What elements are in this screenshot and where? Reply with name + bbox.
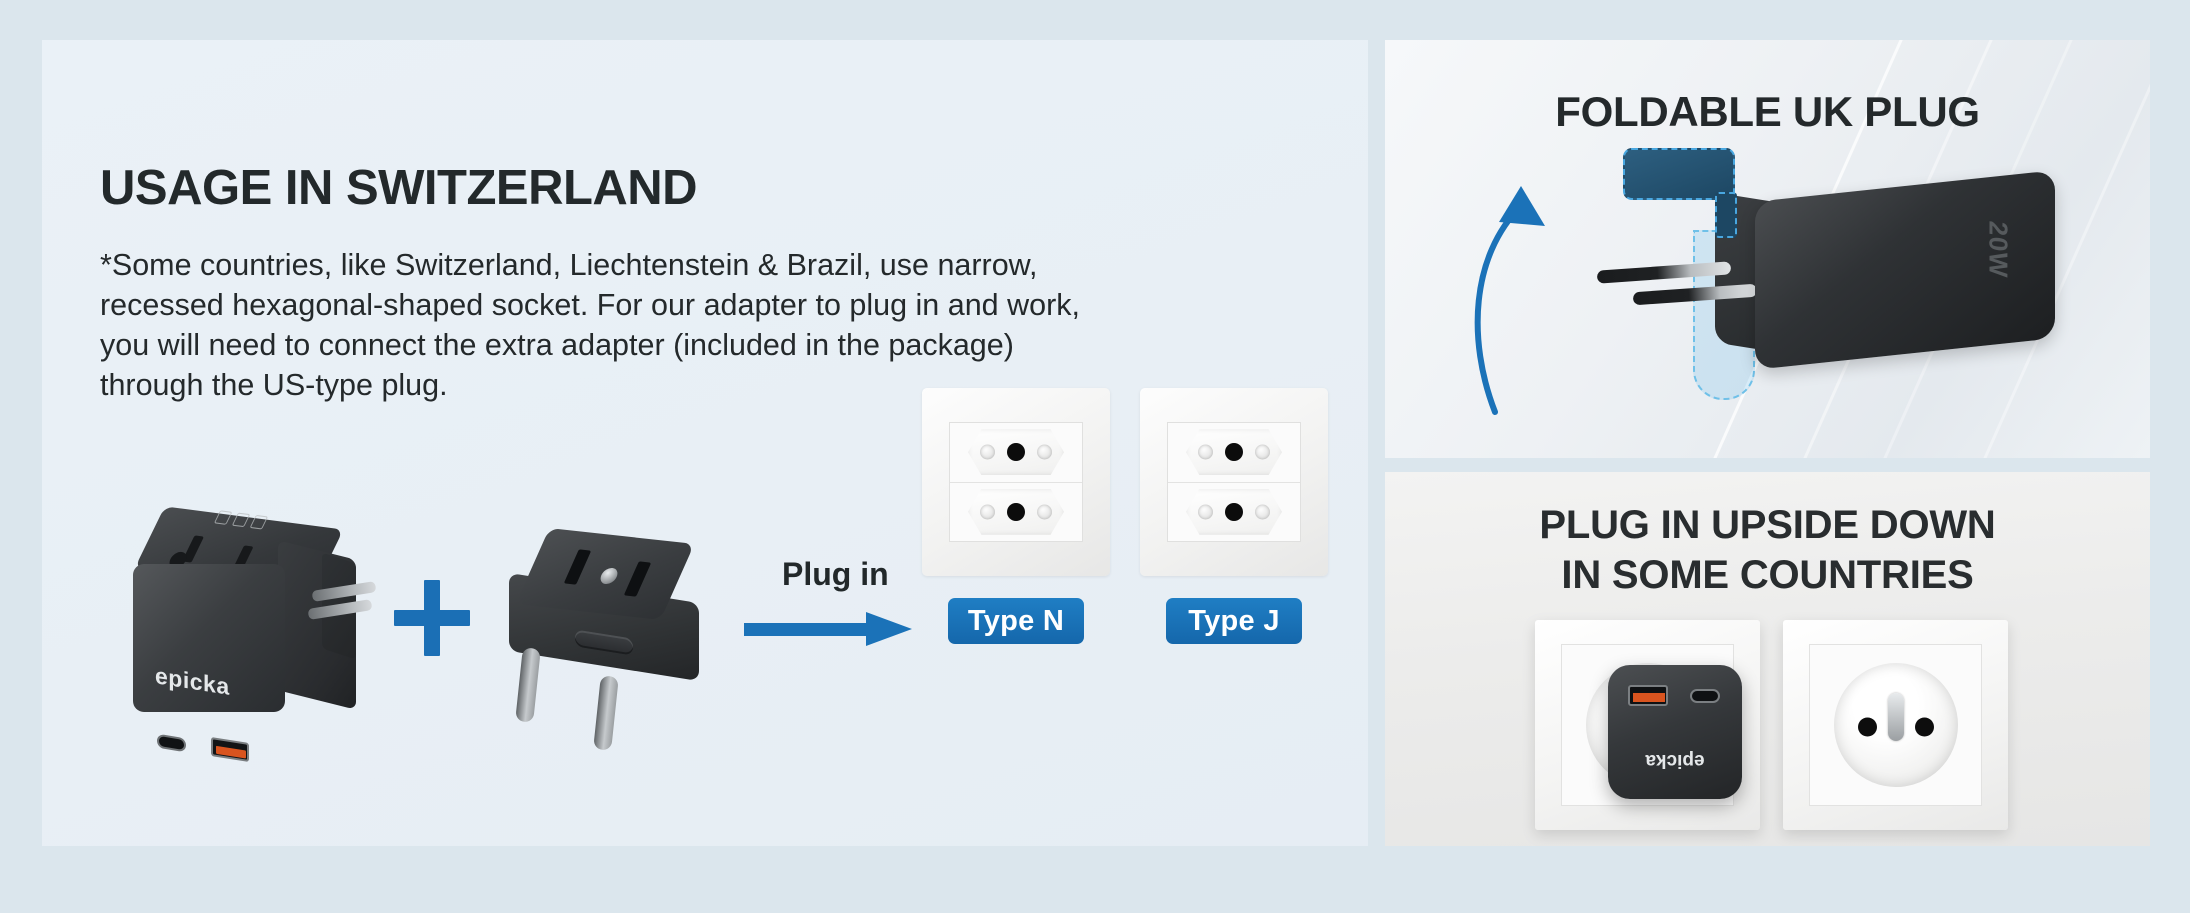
usage-in-switzerland-panel: USAGE IN SWITZERLAND *Some countries, li…	[42, 40, 1368, 846]
status-badge-type-n: Type N	[948, 598, 1084, 644]
product-diagram-row: epicka Plug in	[42, 480, 1368, 810]
paragraph-line-1: *Some countries, like Switzerland, Liech…	[100, 245, 1365, 285]
brand-logo: epicka	[155, 662, 230, 701]
page-title: USAGE IN SWITZERLAND	[100, 160, 697, 216]
travel-adapter-product-image: epicka	[126, 500, 356, 750]
foldable-uk-pin-stem	[1715, 192, 1737, 238]
wattage-label: 20W	[1983, 220, 2014, 280]
usb-c-port-icon	[157, 734, 186, 753]
adapter-plugged-upside-down: epicka	[1608, 665, 1742, 799]
extra-adapter-product-image	[497, 526, 712, 741]
socket-outlet-upper	[1168, 423, 1300, 483]
title-line-1: PLUG IN UPSIDE DOWN	[1539, 503, 1995, 547]
status-badge-type-j: Type J	[1166, 598, 1302, 644]
wall-sockets-scene: epicka	[1535, 620, 2035, 846]
infographic-stage: USAGE IN SWITZERLAND *Some countries, li…	[0, 0, 2190, 913]
foldable-uk-plug-title: FOLDABLE UK PLUG	[1385, 88, 2150, 136]
brand-logo: epicka	[1608, 749, 1742, 771]
wall-socket-with-adapter: epicka	[1535, 620, 1760, 830]
socket-hole-right	[1915, 718, 1934, 737]
extra-adapter-pin-right	[593, 675, 619, 750]
socket-earth-pin	[1888, 693, 1904, 741]
paragraph-line-3: you will need to connect the extra adapt…	[100, 325, 1365, 365]
socket-hole-left	[1858, 718, 1877, 737]
empty-wall-socket	[1783, 620, 2008, 830]
plug-in-upside-down-title: PLUG IN UPSIDE DOWN IN SOME COUNTRIES	[1385, 500, 2150, 600]
extra-adapter-pin-left	[515, 647, 541, 722]
uk-plug-illustration: 20W	[1385, 130, 2150, 450]
plug-in-upside-down-panel: PLUG IN UPSIDE DOWN IN SOME COUNTRIES ep…	[1385, 472, 2150, 846]
plug-in-label: Plug in	[782, 556, 889, 593]
usb-c-port-icon	[1690, 689, 1720, 703]
plus-icon	[394, 580, 470, 656]
description-paragraph: *Some countries, like Switzerland, Liech…	[100, 245, 1365, 405]
paragraph-line-2: recessed hexagonal-shaped socket. For ou…	[100, 285, 1365, 325]
wall-socket-type-j	[1140, 388, 1328, 576]
socket-group-type-j: Type J	[1140, 388, 1328, 644]
usb-a-port-icon	[1628, 685, 1668, 706]
euro-socket-recess	[1834, 663, 1958, 787]
socket-outlet-upper	[950, 423, 1082, 483]
usb-a-port-icon	[211, 737, 249, 762]
socket-group-type-n: Type N	[922, 388, 1110, 644]
adapter-front-face: epicka	[133, 564, 285, 712]
title-line-2: IN SOME COUNTRIES	[1561, 553, 1973, 597]
wall-socket-type-n	[922, 388, 1110, 576]
socket-outlet-lower	[950, 483, 1082, 542]
plug-in-arrow-icon	[744, 612, 914, 646]
foldable-uk-plug-panel: FOLDABLE UK PLUG 20W	[1385, 40, 2150, 458]
socket-outlet-lower	[1168, 483, 1300, 542]
